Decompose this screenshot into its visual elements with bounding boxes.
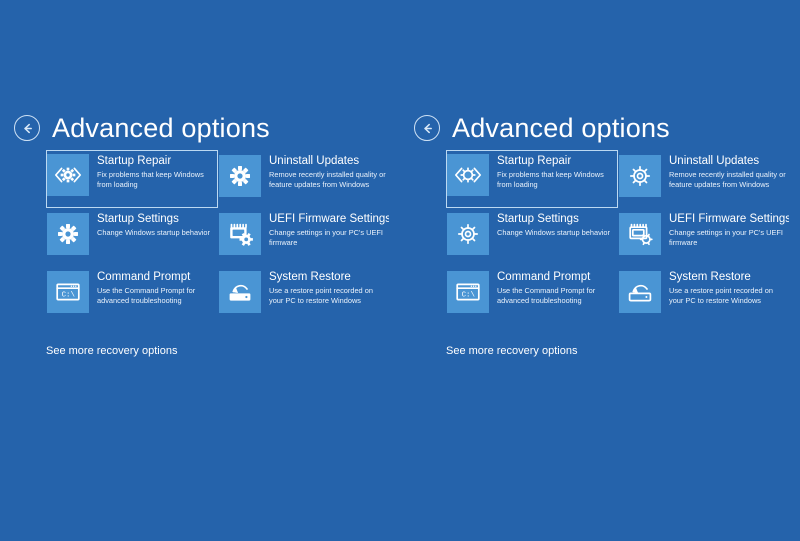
tile-title: Startup Settings <box>497 213 610 226</box>
tile-uninstall-updates[interactable]: Uninstall UpdatesRemove recently install… <box>218 150 390 208</box>
tile-text: Command PromptUse the Command Prompt for… <box>489 267 615 305</box>
tile-title: Startup Settings <box>97 213 210 226</box>
tile-text: Startup SettingsChange Windows startup b… <box>89 209 210 238</box>
startup-repair-icon <box>447 154 489 196</box>
startup-settings-icon <box>47 213 89 255</box>
panel-header: Advanced options <box>400 0 800 146</box>
tile-description: Fix problems that keep Windows from load… <box>97 170 215 189</box>
tile-description: Use a restore point recorded on your PC … <box>669 286 787 305</box>
tile-description: Use the Command Prompt for advanced trou… <box>97 286 215 305</box>
startup-repair-icon <box>47 154 89 196</box>
tile-text: Command PromptUse the Command Prompt for… <box>89 267 215 305</box>
page-title: Advanced options <box>452 115 670 142</box>
tile-description: Use the Command Prompt for advanced trou… <box>497 286 615 305</box>
recovery-options-grid: Startup RepairFix problems that keep Win… <box>46 150 386 324</box>
tile-description: Change Windows startup behavior <box>497 228 610 238</box>
tile-text: Startup RepairFix problems that keep Win… <box>89 151 215 189</box>
tile-description: Fix problems that keep Windows from load… <box>497 170 615 189</box>
svg-text:C:\: C:\ <box>62 291 76 299</box>
svg-text:C:\: C:\ <box>462 291 476 299</box>
tile-description: Remove recently installed quality or fea… <box>269 170 387 189</box>
tile-title: Startup Repair <box>97 155 215 168</box>
tile-text: UEFI Firmware SettingsChange settings in… <box>661 209 789 247</box>
back-arrow-icon[interactable] <box>14 115 40 141</box>
tile-text: Uninstall UpdatesRemove recently install… <box>261 151 387 189</box>
tile-title: UEFI Firmware Settings <box>669 213 789 226</box>
tile-startup-repair[interactable]: Startup RepairFix problems that keep Win… <box>446 150 618 208</box>
tile-uninstall-updates[interactable]: Uninstall UpdatesRemove recently install… <box>618 150 790 208</box>
uninstall-updates-icon <box>619 155 661 197</box>
uefi-firmware-icon <box>219 213 261 255</box>
tile-title: System Restore <box>669 271 787 284</box>
uefi-firmware-icon <box>619 213 661 255</box>
tile-startup-settings[interactable]: Startup SettingsChange Windows startup b… <box>46 208 218 266</box>
see-more-recovery-options-link[interactable]: See more recovery options <box>46 345 177 357</box>
page-title: Advanced options <box>52 115 270 142</box>
tile-command-prompt[interactable]: C:\Command PromptUse the Command Prompt … <box>446 266 618 324</box>
tile-text: Uninstall UpdatesRemove recently install… <box>661 151 787 189</box>
advanced-options-panel: Advanced options Startup RepairFix probl… <box>400 0 800 541</box>
tile-text: Startup RepairFix problems that keep Win… <box>489 151 615 189</box>
tile-system-restore[interactable]: System RestoreUse a restore point record… <box>618 266 790 324</box>
back-arrow-icon[interactable] <box>414 115 440 141</box>
advanced-options-panel: Advanced options Startup RepairFix probl… <box>0 0 400 541</box>
tile-command-prompt[interactable]: C:\Command PromptUse the Command Prompt … <box>46 266 218 324</box>
tile-uefi-firmware-settings[interactable]: UEFI Firmware SettingsChange settings in… <box>618 208 790 266</box>
uninstall-updates-icon <box>219 155 261 197</box>
tile-uefi-firmware-settings[interactable]: UEFI Firmware SettingsChange settings in… <box>218 208 390 266</box>
tile-title: Command Prompt <box>97 271 215 284</box>
see-more-recovery-options-link[interactable]: See more recovery options <box>446 345 577 357</box>
tile-system-restore[interactable]: System RestoreUse a restore point record… <box>218 266 390 324</box>
recovery-options-grid: Startup RepairFix problems that keep Win… <box>446 150 786 324</box>
tile-description: Change Windows startup behavior <box>97 228 210 238</box>
panel-header: Advanced options <box>0 0 400 146</box>
tile-startup-settings[interactable]: Startup SettingsChange Windows startup b… <box>446 208 618 266</box>
startup-settings-icon <box>447 213 489 255</box>
command-prompt-icon: C:\ <box>447 271 489 313</box>
command-prompt-icon: C:\ <box>47 271 89 313</box>
tile-description: Remove recently installed quality or fea… <box>669 170 787 189</box>
tile-startup-repair[interactable]: Startup RepairFix problems that keep Win… <box>46 150 218 208</box>
tile-text: System RestoreUse a restore point record… <box>661 267 787 305</box>
tile-title: Uninstall Updates <box>669 155 787 168</box>
tile-title: UEFI Firmware Settings <box>269 213 389 226</box>
tile-description: Change settings in your PC's UEFI firmwa… <box>269 228 387 247</box>
advanced-options-screen: Advanced options Startup RepairFix probl… <box>0 0 800 541</box>
tile-text: Startup SettingsChange Windows startup b… <box>489 209 610 238</box>
tile-description: Change settings in your PC's UEFI firmwa… <box>669 228 787 247</box>
system-restore-icon <box>619 271 661 313</box>
tile-title: Startup Repair <box>497 155 615 168</box>
system-restore-icon <box>219 271 261 313</box>
tile-title: System Restore <box>269 271 387 284</box>
tile-description: Use a restore point recorded on your PC … <box>269 286 387 305</box>
tile-title: Command Prompt <box>497 271 615 284</box>
tile-text: System RestoreUse a restore point record… <box>261 267 387 305</box>
tile-text: UEFI Firmware SettingsChange settings in… <box>261 209 389 247</box>
tile-title: Uninstall Updates <box>269 155 387 168</box>
